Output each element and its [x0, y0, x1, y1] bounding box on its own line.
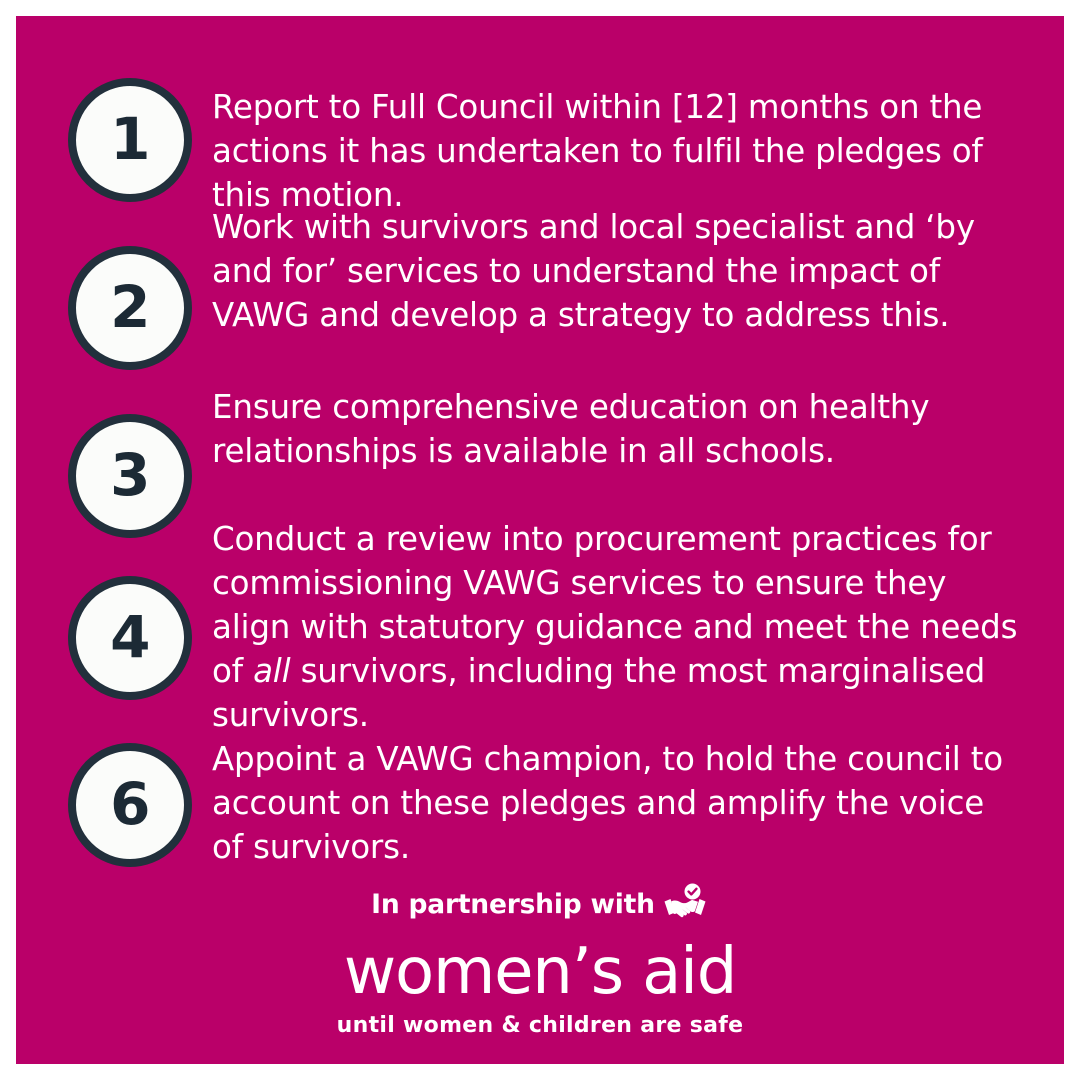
pledge-number-badge-2: 2 — [68, 246, 192, 370]
pledge-text-6: Appoint a VAWG champion, to hold the cou… — [212, 737, 1022, 869]
logo-tagline: until women & children are safe — [16, 1015, 1064, 1037]
womens-aid-logo: women’s aid until women & children are s… — [16, 940, 1064, 1037]
poster-canvas: 1 Report to Full Council within [12] mon… — [16, 16, 1064, 1064]
pledge-number-badge-4: 4 — [68, 576, 192, 700]
partnership-line: In partnership with — [371, 882, 709, 928]
pledge-number-badge-3: 3 — [68, 414, 192, 538]
pledge-number-1: 1 — [110, 110, 150, 168]
partnership-label: In partnership with — [371, 892, 655, 919]
pledge-number-6: 6 — [110, 775, 150, 833]
pledge-text-4-emphasis: all — [253, 652, 290, 690]
pledge-text-4: Conduct a review into procurement practi… — [212, 517, 1022, 737]
pledge-text-3: Ensure comprehensive education on health… — [212, 385, 1022, 473]
pledge-text-4-part-2: survivors, including the most marginalis… — [212, 652, 985, 734]
handshake-check-icon — [661, 883, 709, 927]
pledge-number-3: 3 — [110, 446, 150, 504]
footer: In partnership with women’s aid until wo… — [16, 882, 1064, 1037]
pledge-number-2: 2 — [110, 278, 150, 336]
pledge-number-4: 4 — [110, 608, 150, 666]
pledge-number-badge-1: 1 — [68, 78, 192, 202]
pledge-number-badge-6: 6 — [68, 743, 192, 867]
pledge-text-2: Work with survivors and local specialist… — [212, 205, 1022, 337]
logo-wordmark: women’s aid — [16, 940, 1064, 1004]
pledge-text-1: Report to Full Council within [12] month… — [212, 85, 1022, 217]
